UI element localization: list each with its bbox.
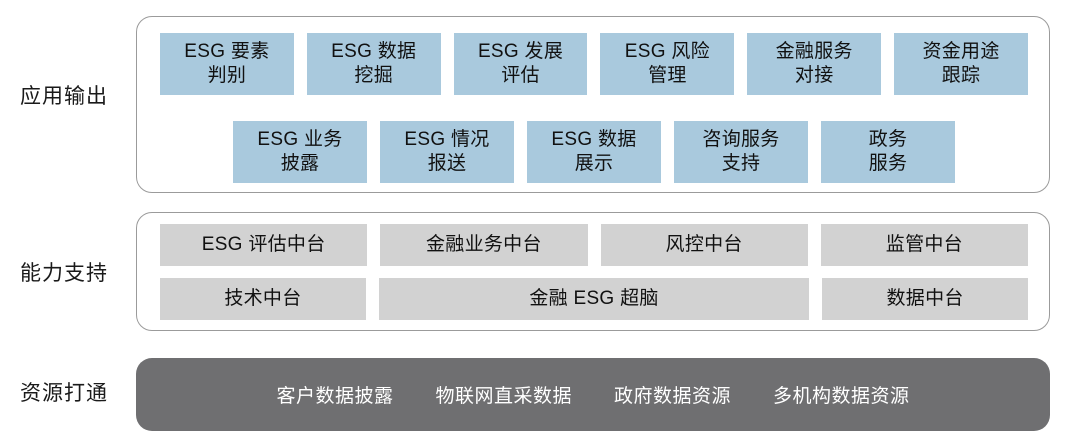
architecture-diagram: 应用输出 ESG 要素 判别 ESG 数据 挖掘 ESG 发展 评估 ESG 风… — [0, 0, 1080, 447]
application-row-1: ESG 要素 判别 ESG 数据 挖掘 ESG 发展 评估 ESG 风险 管理 … — [160, 33, 1028, 95]
app-cell-esg-element-identification[interactable]: ESG 要素 判别 — [160, 33, 294, 95]
cap-cell-regulatory-platform[interactable]: 监管中台 — [821, 224, 1028, 266]
res-item-government-data-resource[interactable]: 政府数据资源 — [614, 381, 731, 408]
capability-row-2: 技术中台 金融 ESG 超脑 数据中台 — [160, 278, 1028, 320]
cap-cell-financial-business-platform[interactable]: 金融业务中台 — [380, 224, 587, 266]
application-row-2: ESG 业务 披露 ESG 情况 报送 ESG 数据 展示 咨询服务 支持 政务… — [233, 121, 955, 183]
capability-row-1: ESG 评估中台 金融业务中台 风控中台 监管中台 — [160, 224, 1028, 266]
app-cell-esg-development-assessment[interactable]: ESG 发展 评估 — [454, 33, 588, 95]
cap-cell-esg-assessment-platform[interactable]: ESG 评估中台 — [160, 224, 367, 266]
app-cell-consulting-service-support[interactable]: 咨询服务 支持 — [674, 121, 808, 183]
res-item-multi-institution-data-resource[interactable]: 多机构数据资源 — [773, 381, 910, 408]
resource-tier-bar: 客户数据披露 物联网直采数据 政府数据资源 多机构数据资源 — [136, 358, 1050, 431]
app-cell-esg-risk-management[interactable]: ESG 风险 管理 — [600, 33, 734, 95]
cap-cell-technology-platform[interactable]: 技术中台 — [160, 278, 366, 320]
cap-cell-risk-control-platform[interactable]: 风控中台 — [601, 224, 808, 266]
tier-label-capability: 能力支持 — [0, 261, 128, 286]
app-cell-esg-data-mining[interactable]: ESG 数据 挖掘 — [307, 33, 441, 95]
tier-label-resource: 资源打通 — [0, 381, 128, 406]
app-cell-government-service[interactable]: 政务 服务 — [821, 121, 955, 183]
cap-cell-data-platform[interactable]: 数据中台 — [822, 278, 1028, 320]
cap-cell-financial-esg-super-brain[interactable]: 金融 ESG 超脑 — [379, 278, 809, 320]
app-cell-financial-service-connection[interactable]: 金融服务 对接 — [747, 33, 881, 95]
app-cell-esg-business-disclosure[interactable]: ESG 业务 披露 — [233, 121, 367, 183]
app-cell-esg-status-reporting[interactable]: ESG 情况 报送 — [380, 121, 514, 183]
app-cell-esg-data-display[interactable]: ESG 数据 展示 — [527, 121, 661, 183]
app-cell-fund-usage-tracking[interactable]: 资金用途 跟踪 — [894, 33, 1028, 95]
tier-label-application: 应用输出 — [0, 84, 128, 109]
res-item-customer-data-disclosure[interactable]: 客户数据披露 — [276, 381, 393, 408]
res-item-iot-direct-collection-data[interactable]: 物联网直采数据 — [435, 381, 572, 408]
